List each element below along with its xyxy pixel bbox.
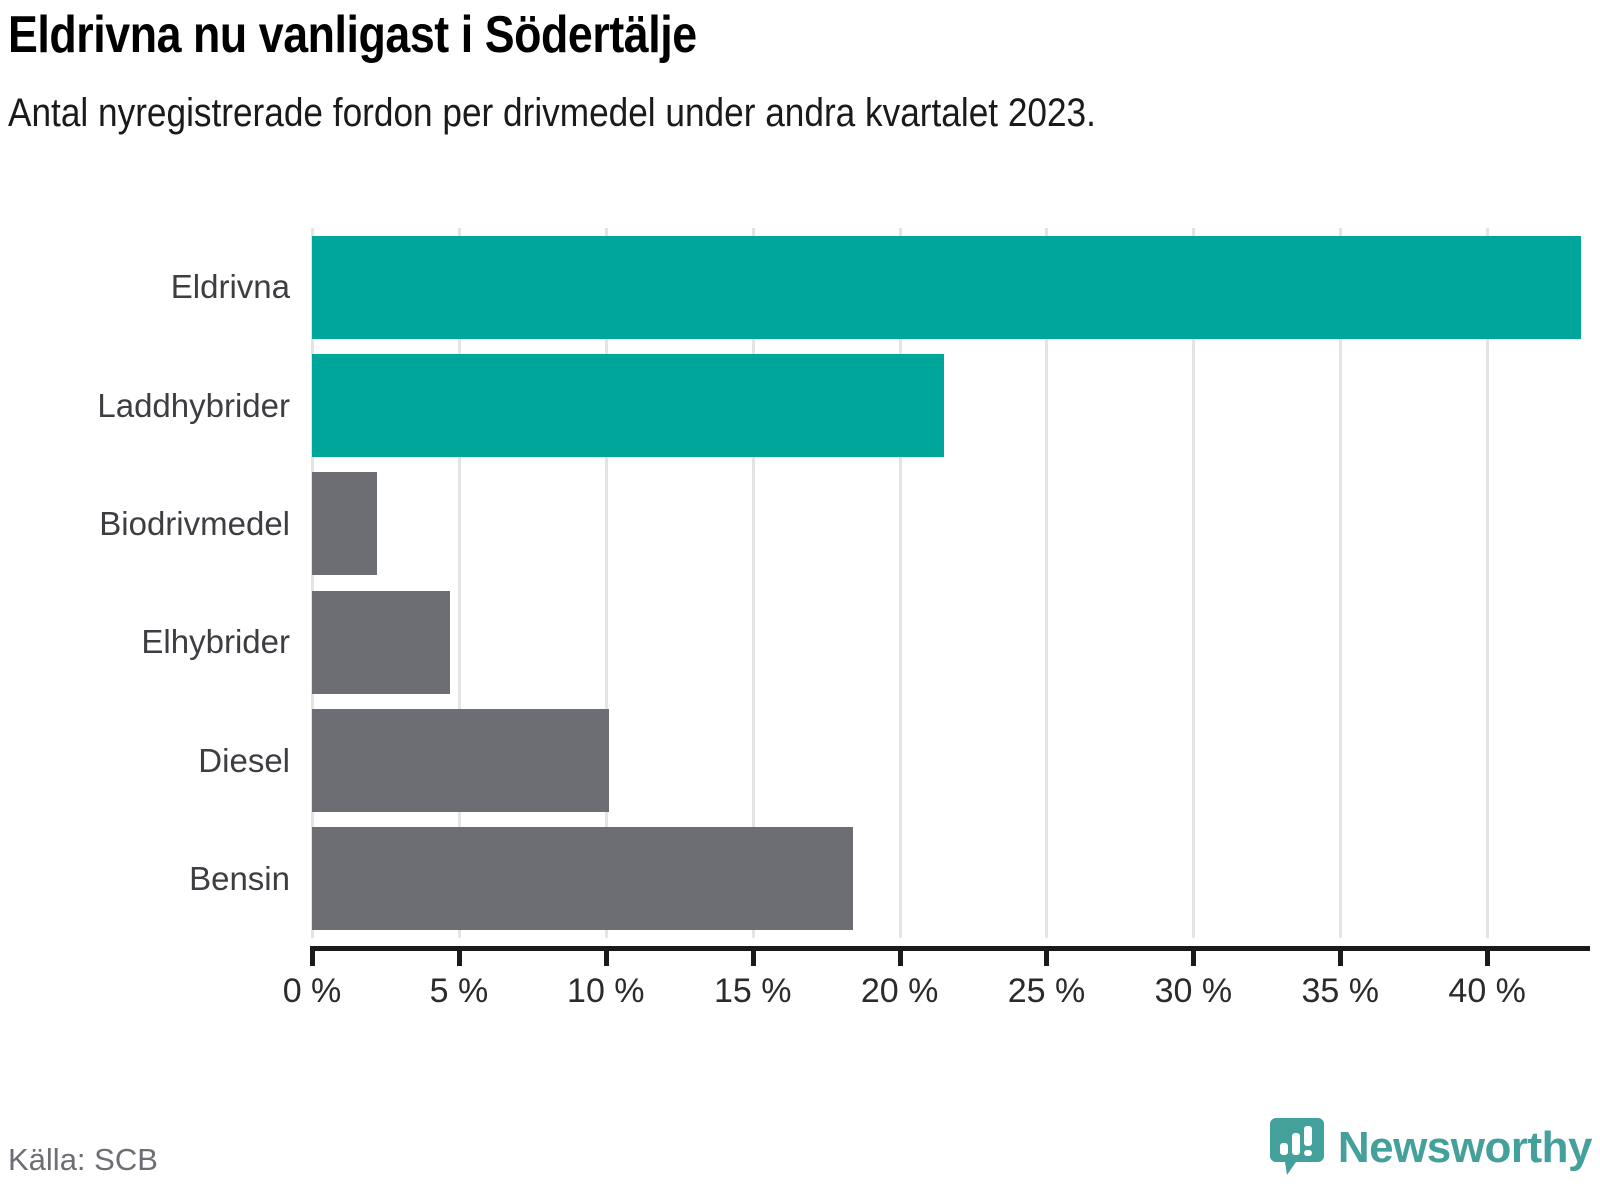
- x-axis-tick-label: 0 %: [283, 972, 342, 1011]
- x-axis-tick-label: 15 %: [714, 972, 792, 1011]
- bar-row: [312, 472, 1590, 575]
- newsworthy-wordmark: Newsworthy: [1338, 1126, 1592, 1170]
- x-axis-tick: [1044, 946, 1049, 966]
- bar-eldrivna[interactable]: [312, 236, 1581, 339]
- newsworthy-bar-chart-bubble-icon: [1270, 1118, 1324, 1178]
- x-axis-tick: [1338, 946, 1343, 966]
- x-axis-tick: [310, 946, 315, 966]
- x-axis-tick-label: 20 %: [861, 972, 939, 1011]
- bar-row: [312, 827, 1590, 930]
- page-title: Eldrivna nu vanligast i Södertälje: [8, 0, 1370, 63]
- x-axis-tick: [1191, 946, 1196, 966]
- bar-row: [312, 709, 1590, 812]
- x-axis-tick: [457, 946, 462, 966]
- x-axis-tick: [604, 946, 609, 966]
- bar-laddhybrider[interactable]: [312, 354, 944, 457]
- x-axis-tick-label: 35 %: [1302, 972, 1380, 1011]
- x-axis-tick-label: 10 %: [567, 972, 645, 1011]
- chart-page: Eldrivna nu vanligast i Södertälje Antal…: [0, 0, 1600, 1200]
- bar-biodrivmedel[interactable]: [312, 472, 377, 575]
- bar-diesel[interactable]: [312, 709, 609, 812]
- bar-row: [312, 591, 1590, 694]
- x-axis-tick: [898, 946, 903, 966]
- bar-series: [312, 228, 1590, 938]
- x-axis-tick: [1485, 946, 1490, 966]
- category-label-elhybrider: Elhybrider: [10, 625, 290, 658]
- bar-row: [312, 236, 1590, 339]
- bar-elhybrider[interactable]: [312, 591, 450, 694]
- x-axis-tick-label: 25 %: [1008, 972, 1086, 1011]
- x-axis-tick-label: 40 %: [1448, 972, 1526, 1011]
- category-label-bensin: Bensin: [10, 862, 290, 895]
- category-label-biodrivmedel: Biodrivmedel: [10, 507, 290, 540]
- category-label-diesel: Diesel: [10, 744, 290, 777]
- page-subtitle: Antal nyregistrerade fordon per drivmede…: [8, 63, 1402, 135]
- x-axis-tick-label: 5 %: [430, 972, 489, 1011]
- bar-row: [312, 354, 1590, 457]
- plot-area: [312, 228, 1590, 938]
- category-label-eldrivna: Eldrivna: [10, 270, 290, 303]
- x-axis-tick: [751, 946, 756, 966]
- chart-header: Eldrivna nu vanligast i Södertälje Antal…: [8, 0, 1592, 135]
- source-note: Källa: SCB: [8, 1142, 158, 1178]
- x-axis-tick-label: 30 %: [1155, 972, 1233, 1011]
- newsworthy-logo[interactable]: Newsworthy: [1270, 1118, 1592, 1178]
- bar-bensin[interactable]: [312, 827, 853, 930]
- chart-footer: Källa: SCB Newsworthy: [0, 1090, 1600, 1200]
- category-label-laddhybrider: Laddhybrider: [10, 389, 290, 422]
- x-axis-line: [312, 946, 1590, 951]
